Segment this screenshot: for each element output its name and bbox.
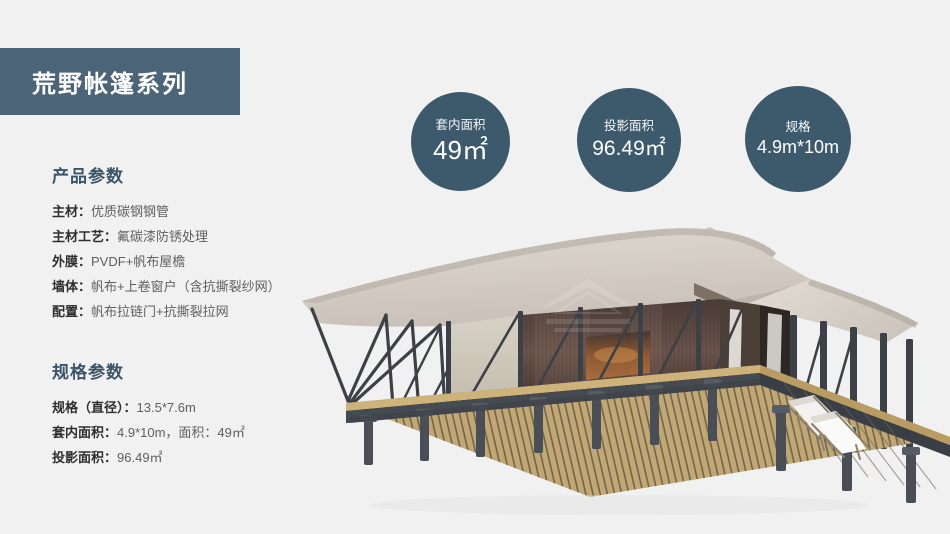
spec-label: 套内面积：	[52, 425, 117, 440]
badge-number: 49	[433, 135, 462, 165]
badge-number: 96.49	[592, 137, 645, 160]
spec-value: 96.49㎡	[117, 450, 163, 465]
spec-label: 配置：	[52, 304, 91, 319]
badge-number: 4.9m*10m	[757, 137, 839, 157]
tent-illustration	[290, 205, 950, 525]
badge-value: 4.9m*10m	[757, 138, 839, 158]
badge-value: 96.49㎡	[592, 137, 666, 160]
spec-value: 4.9*10m，面积：49㎡	[117, 425, 245, 440]
spec-label: 墙体：	[52, 279, 91, 294]
badge-label: 投影面积	[604, 119, 654, 134]
spec-label: 外膜：	[52, 254, 91, 269]
stat-badge-projected-area: 投影面积 96.49㎡	[577, 88, 681, 192]
badge-unit: ㎡	[645, 137, 666, 160]
spec-value: 氟碳漆防锈处理	[117, 229, 208, 244]
stat-badge-group: 套内面积 49㎡ 投影面积 96.49㎡ 规格 4.9m*10m	[0, 0, 950, 220]
spec-value: 帆布+上卷窗户（含抗撕裂纱网）	[91, 279, 281, 294]
badge-label: 套内面积	[435, 118, 485, 133]
spec-value: 帆布拉链门+抗撕裂拉网	[91, 304, 229, 319]
badge-unit: ㎡	[462, 135, 488, 165]
stat-badge-dimensions: 规格 4.9m*10m	[745, 86, 851, 192]
stat-badge-indoor-area: 套内面积 49㎡	[411, 92, 510, 191]
badge-label: 规格	[785, 120, 810, 135]
slide-canvas: 荒野帐篷系列 产品参数 主材：优质碳钢钢管 主材工艺：氟碳漆防锈处理 外膜：PV…	[0, 0, 950, 534]
spec-value: PVDF+帆布屋檐	[91, 254, 185, 269]
badge-value: 49㎡	[433, 136, 488, 165]
spec-label: 规格（直径）：	[52, 400, 137, 415]
spec-label: 投影面积：	[52, 450, 117, 465]
spec-label: 主材工艺：	[52, 229, 117, 244]
spec-value: 13.5*7.6m	[137, 400, 196, 415]
